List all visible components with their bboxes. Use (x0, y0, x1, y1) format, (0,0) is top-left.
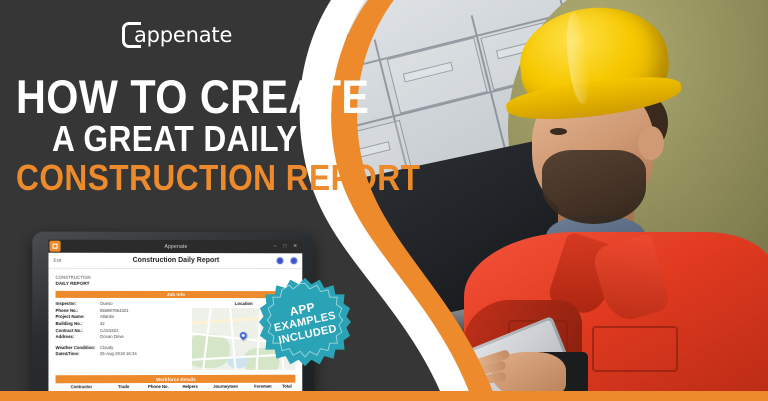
field-label: Building No.: (56, 321, 100, 326)
field-label: Project Name: (56, 314, 100, 319)
save-icon[interactable] (290, 257, 297, 264)
field-value[interactable]: 555987654321 (100, 308, 129, 313)
field-value[interactable]: 42 (100, 321, 105, 326)
sync-icon[interactable] (277, 257, 284, 264)
field-row: Project Name: Atlantis (56, 314, 184, 319)
field-value[interactable]: Oueso (100, 301, 113, 306)
field-label: Contract No.: (56, 328, 100, 333)
field-label: Date&Time: (56, 352, 100, 357)
field-row: Inspector: Oueso (56, 301, 184, 306)
page-title: Construction Daily Report (48, 257, 302, 265)
column-header: Journeymen (204, 383, 248, 390)
worker-beard (542, 150, 646, 224)
field-label: Inspector: (56, 301, 100, 306)
logo-text: appenate (134, 23, 232, 47)
field-value[interactable]: 25-Aug-2019 16:34 (100, 351, 137, 356)
field-row: Date&Time: 25-Aug-2019 16:34 (56, 351, 184, 356)
column-header: Total (278, 383, 295, 390)
field-label: Weather Condition: (56, 345, 100, 350)
job-info-fields: Inspector: Oueso Phone No.: 555987654321… (56, 301, 184, 370)
worker-photo (348, 0, 768, 401)
construction-worker (472, 0, 768, 401)
headline-block: HOW TO CREATE A GREAT DAILY CONSTRUCTION… (16, 75, 360, 194)
field-value[interactable]: Cloudy (100, 345, 113, 350)
column-header: Contractor (56, 383, 108, 391)
field-value[interactable]: CAS4321 (100, 328, 118, 333)
bottom-accent-bar (0, 391, 768, 401)
field-label: Address: (56, 334, 100, 339)
column-header: Foremen (247, 383, 278, 390)
field-row: Phone No.: 555987654321 (56, 308, 184, 313)
field-row: Address: Ocean Drive (56, 334, 184, 339)
badge-label: APP EXAMPLES INCLUDED (250, 267, 359, 376)
app-header: Exit Construction Daily Report (48, 253, 302, 270)
headline-line-3: CONSTRUCTION REPORT (16, 161, 319, 194)
column-header: Helpers (177, 383, 204, 390)
appenate-logo: appenate (122, 18, 232, 52)
field-value[interactable]: Atlantis (100, 314, 114, 319)
field-value[interactable]: Ocean Drive (100, 334, 124, 339)
field-label: Phone No.: (56, 308, 100, 313)
column-header: Trade (107, 383, 140, 390)
worker-eye (550, 128, 567, 135)
field-row: Contract No.: CAS4321 (56, 328, 184, 333)
headline-line-2: A GREAT DAILY (52, 122, 323, 155)
header-actions[interactable] (277, 257, 298, 264)
field-row: Building No.: 42 (56, 321, 184, 326)
coverall-pocket (592, 326, 678, 372)
column-header: Phone No. (140, 383, 177, 390)
app-window-title: Appenate (48, 243, 302, 250)
field-row: Weather Condition: Cloudy (56, 345, 184, 350)
app-examples-badge: APP EXAMPLES INCLUDED (259, 276, 351, 368)
headline-line-1: HOW TO CREATE (16, 75, 319, 118)
app-titlebar: Appenate – □ ✕ (48, 240, 302, 254)
worker-ear (638, 126, 664, 160)
promo-banner: appenate HOW TO CREATE A GREAT DAILY CON… (0, 0, 768, 401)
